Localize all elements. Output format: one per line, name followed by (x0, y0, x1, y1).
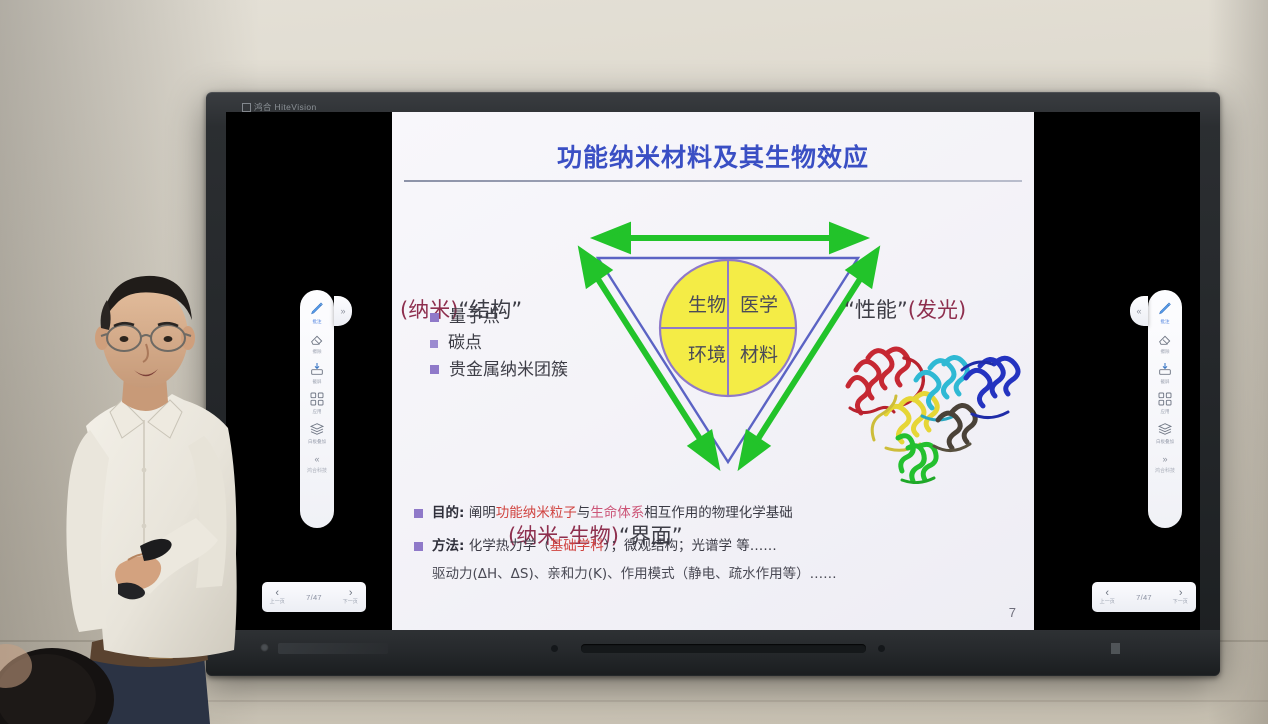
layers-icon (1156, 421, 1174, 437)
note-purpose-text: 目的: 阐明功能纳米粒子与生命体系相互作用的物理化学基础 (432, 504, 793, 522)
label-interface-paren: (纳米–生物) (508, 524, 619, 548)
slide-page-number: 7 (1009, 605, 1016, 620)
classroom-scene: 鸿合 HiteVision 功能纳米材料及其生物效应 (0, 0, 1268, 724)
page-navigation-left[interactable]: ‹ 上一页 7/47 › 下一页 (262, 582, 366, 612)
toolbar-footer-label: 鸿合科技 (307, 467, 327, 474)
toolbar-item-eraser-label: 擦除 (312, 348, 321, 354)
chevron-left-icon: ‹ (275, 588, 279, 599)
next-page-label: 下一页 (343, 600, 358, 605)
note-method-part-0: 化学热力学（ (464, 538, 549, 554)
toolbar-item-apps[interactable]: 应用 (308, 388, 326, 417)
panel-screen: 功能纳米材料及其生物效应 (226, 112, 1200, 632)
toolbar-handle-right-icon[interactable]: » (334, 296, 352, 326)
device-brand: 鸿合 HiteVision (242, 101, 317, 113)
microphone-hole (878, 645, 885, 652)
toolbar-item-pen-label: 批注 (1160, 318, 1169, 324)
bullet-square-icon (414, 542, 423, 551)
note-purpose-part-2: 与 (577, 505, 591, 521)
apps-icon (1156, 391, 1174, 407)
speaker-grille (581, 644, 866, 653)
page-navigation-right[interactable]: ‹ 上一页 7/47 › 下一页 (1092, 582, 1196, 612)
toolbar-item-layers[interactable]: 白板叠加 (1155, 418, 1175, 447)
pen-icon (308, 301, 326, 317)
circle-quadrant-bio: 生物 (688, 290, 726, 317)
toolbar-item-layers[interactable]: 白板叠加 (307, 418, 327, 447)
device-brand-label: 鸿合 HiteVision (254, 101, 317, 113)
bullet-square-icon (430, 313, 439, 322)
note-method-label: 方法: (432, 538, 464, 554)
toolbar-item-pen[interactable]: 批注 (1156, 298, 1174, 327)
list-item: 量子点 (430, 304, 568, 330)
label-property: “性能”(发光) (844, 294, 966, 324)
chevron-right-icon: › (1179, 588, 1183, 599)
list-item-label: 碳点 (448, 330, 482, 356)
bullet-square-icon (430, 365, 439, 374)
toolbar-item-screenshot-label: 截屏 (312, 378, 321, 384)
label-interface: (纳米–生物)“界面” (508, 520, 683, 550)
chevron-left-icon: ‹ (1105, 588, 1109, 599)
next-page-button[interactable]: › 下一页 (342, 588, 359, 606)
prev-page-button[interactable]: ‹ 上一页 (269, 588, 286, 606)
next-page-label: 下一页 (1173, 600, 1188, 605)
toolbar-item-pen[interactable]: 批注 (308, 298, 326, 327)
panel-bottom-bezel (206, 630, 1220, 676)
title-divider (404, 180, 1022, 182)
list-item: 碳点 (430, 330, 568, 356)
list-item-label: 量子点 (449, 304, 500, 330)
ir-sensor (1111, 643, 1120, 654)
toolbar-collapse-left-icon[interactable]: « (314, 454, 319, 464)
bullet-square-icon (430, 340, 438, 348)
chevron-right-icon: › (349, 588, 353, 599)
eraser-icon (1156, 331, 1174, 347)
note-method-continuation: 驱动力(ΔH、ΔS)、亲和力(K)、作用模式（静电、疏水作用等）…… (432, 565, 1026, 583)
toolbar-item-eraser-label: 擦除 (1160, 348, 1169, 354)
toolbar-handle-left-icon[interactable]: « (1130, 296, 1148, 326)
label-structure-quoted: “结构” (458, 298, 522, 322)
note-method-part-1: 基础学科 (550, 538, 604, 554)
right-floating-toolbar[interactable]: 批注 擦除 截屏 (1148, 290, 1182, 528)
list-item: 贵金属纳米团簇 (430, 357, 568, 383)
concept-triangle-diagram: 生物 医学 环境 材料 (纳米)“结构” “性能”(发光) (纳米–生物)“界面… (392, 190, 1034, 480)
note-purpose-part-0: 阐明 (464, 505, 495, 521)
screenshot-icon (1156, 361, 1174, 377)
microphone-hole (551, 645, 558, 652)
note-method-text: 方法: 化学热力学（基础学科）；微观结构；光谱学 等…… (432, 537, 777, 555)
label-interface-quoted: “界面” (619, 524, 683, 548)
note-purpose-label: 目的: (432, 505, 464, 521)
left-floating-toolbar[interactable]: 批注 擦除 截屏 (300, 290, 334, 528)
prev-page-label: 上一页 (1100, 600, 1115, 605)
next-page-button[interactable]: › 下一页 (1172, 588, 1189, 606)
pen-icon (1156, 301, 1174, 317)
slide-notes: 目的: 阐明功能纳米粒子与生命体系相互作用的物理化学基础 方法: 化学热力学（基… (414, 504, 1026, 584)
toolbar-item-layers-label: 白板叠加 (308, 438, 326, 444)
presentation-slide: 功能纳米材料及其生物效应 (392, 112, 1034, 632)
material-bullet-list: 量子点 碳点 贵金属纳米团簇 (430, 304, 568, 383)
apps-icon (308, 391, 326, 407)
toolbar-item-layers-label: 白板叠加 (1156, 438, 1174, 444)
slide-title: 功能纳米材料及其生物效应 (392, 138, 1034, 174)
prev-page-label: 上一页 (270, 600, 285, 605)
interactive-flat-panel: 鸿合 HiteVision 功能纳米材料及其生物效应 (206, 92, 1220, 676)
toolbar-item-screenshot-label: 截屏 (1160, 378, 1169, 384)
hitevision-logo-icon (242, 103, 251, 112)
toolbar-collapse-right-icon[interactable]: » (1162, 454, 1167, 464)
note-purpose-part-1: 功能纳米粒子 (496, 505, 577, 521)
audience-head (0, 604, 150, 724)
circle-quadrant-med: 医学 (740, 290, 778, 317)
prev-page-button[interactable]: ‹ 上一页 (1099, 588, 1116, 606)
note-method-part-2: ）；微观结构；光谱学 等…… (604, 538, 777, 554)
toolbar-item-screenshot[interactable]: 截屏 (1156, 358, 1174, 387)
label-structure-paren: (纳米) (400, 298, 458, 322)
label-structure: (纳米)“结构” (400, 294, 522, 324)
circle-quadrant-env: 环境 (688, 340, 726, 367)
port-panel (278, 643, 388, 654)
label-property-quoted: “性能” (844, 298, 908, 322)
power-button[interactable] (260, 643, 269, 652)
bullet-square-icon (414, 509, 423, 518)
eraser-icon (308, 331, 326, 347)
note-purpose-part-3: 生命体系 (590, 505, 644, 521)
note-purpose-part-4: 相互作用的物理化学基础 (644, 505, 793, 521)
toolbar-item-eraser[interactable]: 擦除 (1156, 328, 1174, 357)
protein-structure-image (842, 334, 1032, 484)
toolbar-item-apps-label: 应用 (312, 408, 321, 414)
layers-icon (308, 421, 326, 437)
toolbar-item-apps[interactable]: 应用 (1156, 388, 1174, 417)
list-item-label: 贵金属纳米团簇 (449, 357, 568, 383)
circle-quadrant-mat: 材料 (740, 340, 778, 367)
toolbar-item-eraser[interactable]: 擦除 (308, 328, 326, 357)
label-property-paren: (发光) (908, 298, 966, 322)
note-method: 方法: 化学热力学（基础学科）；微观结构；光谱学 等…… (414, 537, 1026, 555)
note-purpose: 目的: 阐明功能纳米粒子与生命体系相互作用的物理化学基础 (414, 504, 1026, 522)
page-counter: 7/47 (306, 593, 322, 602)
toolbar-footer-label: 鸿合科技 (1155, 467, 1175, 474)
toolbar-item-pen-label: 批注 (312, 318, 321, 324)
page-counter: 7/47 (1136, 593, 1152, 602)
toolbar-item-screenshot[interactable]: 截屏 (308, 358, 326, 387)
toolbar-item-apps-label: 应用 (1160, 408, 1169, 414)
screenshot-icon (308, 361, 326, 377)
